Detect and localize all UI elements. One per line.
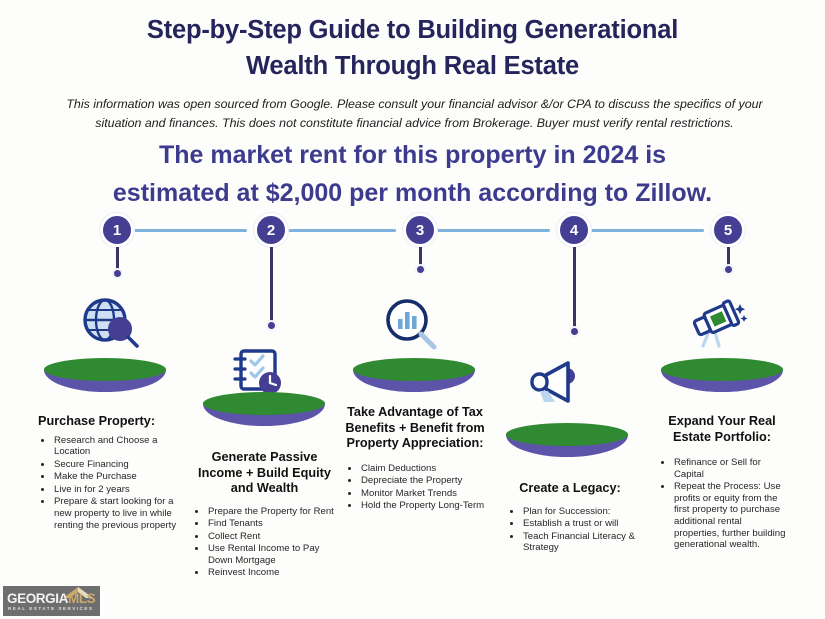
timeline-segment-1-2 (134, 229, 247, 232)
magnifier-chart-icon (383, 297, 445, 353)
drop-line-4 (573, 247, 576, 331)
georgia-mls-logo[interactable]: GEORGIAMLS REAL ESTATE SERVICES (3, 586, 100, 616)
drop-dot-3 (415, 264, 426, 275)
globe-search-icon (78, 296, 146, 352)
platform-1 (44, 358, 166, 394)
timeline-node-5-number: 5 (724, 222, 732, 239)
timeline-segment-3-4 (437, 229, 550, 232)
list-item: Live in for 2 years (53, 484, 180, 496)
list-item: Depreciate the Property (360, 475, 485, 487)
timeline-node-3[interactable]: 3 (403, 213, 437, 247)
list-item: Use Rental Income to Pay Down Mortgage (207, 543, 337, 566)
list-item: Claim Deductions (360, 463, 485, 475)
drop-line-2 (270, 247, 273, 325)
list-item: Prepare the Property for Rent (207, 506, 337, 518)
step-1-bullets: Research and Choose a Location Secure Fi… (38, 435, 180, 532)
subtitle-line2: estimated at $2,000 per month according … (113, 179, 712, 207)
telescope-icon (683, 296, 751, 352)
list-item: Refinance or Sell for Capital (673, 457, 786, 480)
list-item: Find Tenants (207, 518, 337, 530)
platform-2 (203, 392, 325, 428)
platform-3-top (353, 358, 475, 381)
timeline-node-2[interactable]: 2 (254, 213, 288, 247)
step-4-text: Create a Legacy: Plan for Succession: Es… (500, 481, 640, 555)
page-title-line2: Wealth Through Real Estate (0, 48, 825, 84)
step-2-bullets: Prepare the Property for Rent Find Tenan… (192, 506, 337, 580)
logo-wordmark: GEORGIAMLS (7, 591, 95, 606)
list-item: Secure Financing (53, 459, 180, 471)
megaphone-icon (524, 357, 586, 413)
list-item: Teach Financial Literacy & Strategy (522, 531, 640, 554)
platform-5-top (661, 358, 783, 381)
timeline-node-1[interactable]: 1 (100, 213, 134, 247)
infographic-canvas: Step-by-Step Guide to Building Generatio… (0, 0, 825, 619)
subtitle-line1: The market rent for this property in 202… (159, 141, 666, 169)
disclaimer-text: This information was open sourced from G… (52, 95, 777, 133)
timeline-segment-4-5 (591, 229, 704, 232)
step-2-heading: Generate Passive Income + Build Equity a… (192, 450, 337, 497)
drop-dot-4 (569, 326, 580, 337)
step-3-bullets: Claim Deductions Depreciate the Property… (345, 463, 485, 512)
timeline-node-2-number: 2 (267, 222, 275, 239)
list-item: Establish a trust or will (522, 518, 640, 530)
list-item: Repeat the Process: Use profits or equit… (673, 481, 786, 551)
list-item: Make the Purchase (53, 471, 180, 483)
timeline-segment-2-3 (288, 229, 396, 232)
platform-4 (506, 423, 628, 459)
page-title-line1: Step-by-Step Guide to Building Generatio… (147, 16, 678, 44)
timeline-node-1-number: 1 (113, 222, 121, 239)
platform-5 (661, 358, 783, 394)
platform-3 (353, 358, 475, 394)
list-item: Monitor Market Trends (360, 488, 485, 500)
timeline-node-3-number: 3 (416, 222, 424, 239)
step-2-text: Generate Passive Income + Build Equity a… (192, 450, 337, 580)
step-5-bullets: Refinance or Sell for Capital Repeat the… (658, 457, 786, 551)
platform-2-top (203, 392, 325, 415)
list-item: Prepare & start looking for a new proper… (53, 496, 180, 531)
timeline-node-4[interactable]: 4 (557, 213, 591, 247)
list-item: Plan for Succession: (522, 506, 640, 518)
page-title: Step-by-Step Guide to Building Generatio… (0, 12, 825, 84)
market-rent-subtitle: The market rent for this property in 202… (40, 136, 785, 212)
timeline-node-5[interactable]: 5 (711, 213, 745, 247)
list-item: Reinvest Income (207, 567, 337, 579)
logo-tagline: REAL ESTATE SERVICES (8, 606, 94, 611)
step-1-heading: Purchase Property: (38, 414, 180, 430)
step-5-heading: Expand Your Real Estate Portfolio: (658, 414, 786, 445)
step-3-heading: Take Advantage of Tax Benefits + Benefit… (345, 405, 485, 452)
logo-brand-georgia: GEORGIA (7, 591, 68, 606)
step-4-heading: Create a Legacy: (500, 481, 640, 497)
logo-brand-mls: MLS (68, 591, 95, 606)
step-3-text: Take Advantage of Tax Benefits + Benefit… (345, 405, 485, 513)
step-4-bullets: Plan for Succession: Establish a trust o… (500, 506, 640, 554)
drop-dot-1 (112, 268, 123, 279)
step-5-text: Expand Your Real Estate Portfolio: Refin… (658, 414, 786, 552)
platform-4-top (506, 423, 628, 446)
platform-1-top (44, 358, 166, 381)
drop-dot-5 (723, 264, 734, 275)
list-item: Hold the Property Long-Term (360, 500, 485, 512)
drop-dot-2 (266, 320, 277, 331)
list-item: Research and Choose a Location (53, 435, 180, 458)
list-item: Collect Rent (207, 531, 337, 543)
timeline-node-4-number: 4 (570, 222, 578, 239)
step-1-text: Purchase Property: Research and Choose a… (38, 414, 180, 532)
